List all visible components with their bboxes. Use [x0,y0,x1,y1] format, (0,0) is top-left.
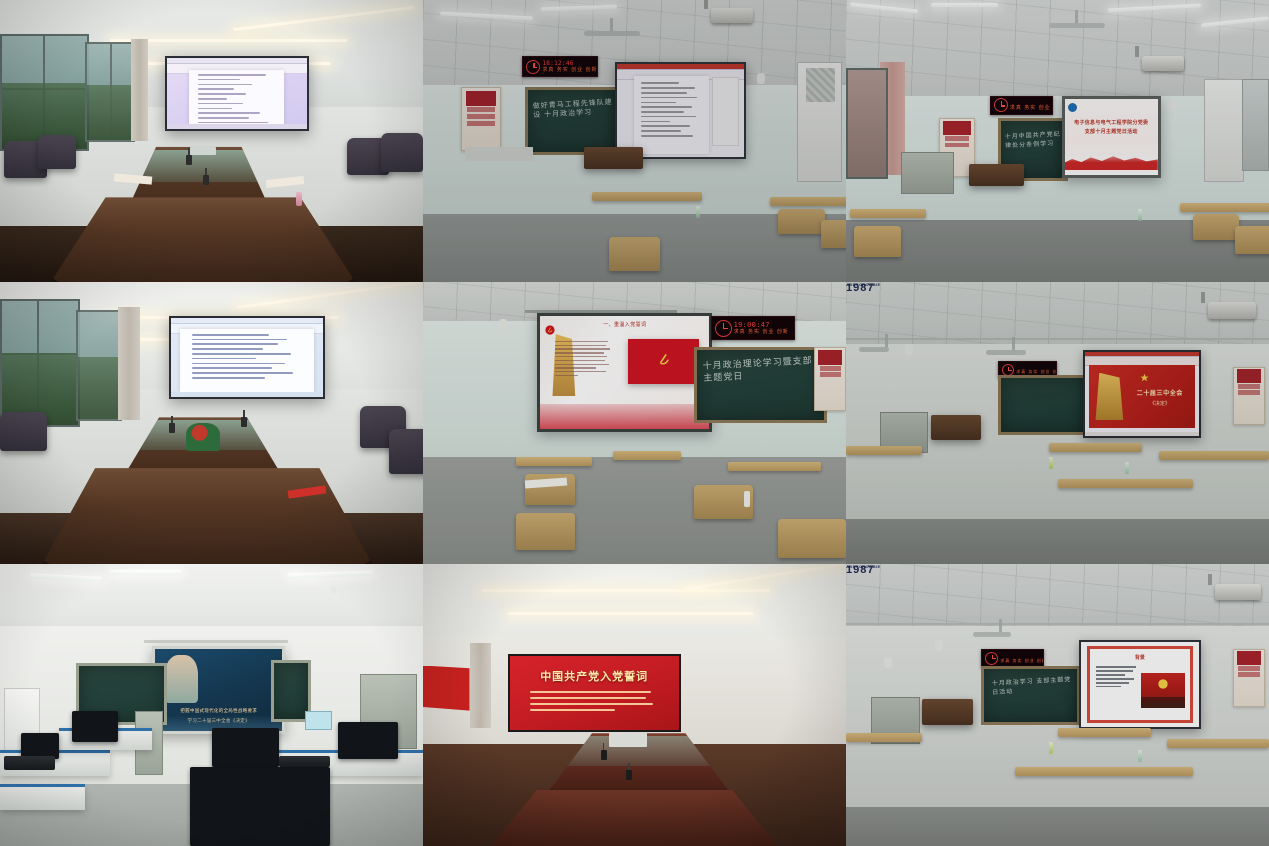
desk-row [1159,451,1269,460]
laptop [609,733,647,747]
slide-subtitle: 支部十月主题党日活动 [1065,128,1158,135]
desk-row [516,457,592,466]
ceiling-fan [859,347,889,352]
water-bottle [1138,209,1142,221]
projector [711,8,753,23]
wall-trim [846,338,1269,340]
lab-desk [0,784,85,810]
desk-row [728,462,821,471]
blackboard-text: 做好青马工程先锋队建设 十月政治学习 [532,98,616,120]
collage-cell-3[interactable]: 求真 务实 创业 创新 十月中国共产党纪律处分条例学习 电子信息与电气工程学院分… [846,0,1269,282]
window [0,299,80,427]
security-camera [757,73,765,84]
cove-light [508,612,753,615]
water-bottle [1125,462,1129,474]
projector [1208,302,1256,319]
window-panel [1242,79,1269,171]
door[interactable] [1204,79,1244,183]
chair [821,220,846,248]
desk-row [1058,479,1193,488]
projector [1142,56,1184,71]
wall-poster [461,87,501,151]
security-camera [935,640,943,651]
desk-row [846,733,922,742]
water-bottle [296,192,302,206]
floor [846,519,1269,564]
wall-notice [305,711,332,730]
podium [931,415,982,440]
smart-board[interactable] [615,62,746,159]
collage-cell-5[interactable]: 一、重温入党誓词 [423,282,846,564]
slide-title: 电子信息与电气工程学院分党委 [1065,119,1158,126]
party-flag [423,666,470,711]
office-chair [389,429,423,474]
desk-row [613,451,681,460]
chair [1235,226,1269,254]
hammer-sickle-icon [655,351,672,372]
projection-screen[interactable] [169,316,325,399]
curtain [118,307,139,420]
star-icon [1140,369,1149,378]
desk-row [850,209,926,218]
computer-lab-scene: 把握中国式现代化的全局性战略要求 学习二十届三中全会《决定》 [0,564,423,846]
office-chair [381,133,423,172]
desk-row [846,446,922,455]
collage-cell-8[interactable]: 中国共产党入党誓词 [423,564,846,846]
window [846,68,888,179]
wall-trim [846,623,1269,625]
podium [584,147,643,170]
office-chair [38,135,76,169]
blackboard-text: 十月政治理论学习暨支部主题党日 [703,354,816,384]
clock-dial-icon [994,98,1008,112]
laptop [190,147,215,155]
led-clock-motto: 求真 务实 创业 创新 [1000,659,1044,663]
wall-poster [1233,367,1265,425]
led-clock-time: 19:00:47 [734,322,789,329]
led-wall-body-lines [530,691,659,715]
collage-cell-9[interactable]: 求真 务实 创业 创新 十月政治学习 支部主题党日活动 背景 [846,564,1269,846]
classroom-scene: 求真 务实 创业 创新 十月中国共产党纪律处分条例学习 电子信息与电气工程学院分… [846,0,1269,282]
document-thumbnail-pane [712,77,739,146]
wall-poster [1233,649,1265,707]
collage-cell-6[interactable]: 求真 务实 创业 创新 二十届三中全会 《决定》 [846,282,1269,564]
window [85,42,136,142]
chair [609,237,660,271]
desk-row [1049,443,1142,452]
security-camera [1167,99,1175,110]
microphone [241,417,247,427]
party-flag-graphic [628,339,699,384]
ceiling [423,564,846,649]
desk-row [770,197,846,206]
desk-row [1167,739,1269,748]
screen-rail [144,640,288,643]
microphone [203,175,209,185]
led-clock-motto: 求真 务实 创业 创新 [1016,370,1057,374]
ceiling-fan [973,632,1011,637]
led-clock-time: 18:12:46 [542,61,597,67]
conference-room-scene [0,0,423,282]
clock-dial-icon [715,320,732,337]
microphone [186,155,192,165]
ceiling-fan [986,350,1026,355]
led-clock-motto: 求真 务实 创业 创新 [542,68,597,73]
security-camera [905,344,913,355]
classroom-scene: 18:12:46 求真 务实 创业 创新 做好青马工程先锋队建设 十月政治学习 [423,0,846,282]
clock-dial-icon [985,652,998,665]
chair [854,226,901,257]
clock-dial-icon [526,60,540,74]
statue-graphic [1094,373,1126,421]
classroom-scene: 求真 务实 创业 创新 十月政治学习 支部主题党日活动 背景 [846,564,1269,846]
led-clock-display: 求真 务实 创业 创新 [990,96,1053,115]
slide-footer-graphic [540,404,709,429]
projection-screen[interactable]: 把握中国式现代化的全局性战略要求 学习二十届三中全会《决定》 [152,646,285,734]
curtain [470,643,491,728]
chair [516,513,575,550]
blackboard: 十月政治理论学习暨支部主题党日 [694,347,827,424]
window [0,34,89,151]
classroom-scene: 一、重温入党誓词 [423,282,846,564]
monitor[interactable] [72,711,119,742]
smoke-detector [330,587,337,594]
speaker-box [884,657,892,668]
projection-screen[interactable] [165,56,309,131]
microphone [169,423,175,433]
security-camera [499,319,507,330]
smart-board[interactable]: 二十届三中全会 《决定》 [1083,350,1201,439]
blackboard: 十月政治学习 支部主题党日活动 [981,666,1080,726]
podium [922,699,973,724]
thermos-cup [744,491,750,507]
collage-cell-7[interactable]: 把握中国式现代化的全局性战略要求 学习二十届三中全会《决定》 [0,564,423,846]
slide-subtitle: 《决定》 [1131,400,1188,407]
window [76,310,122,421]
collage-cell-1[interactable] [0,0,423,282]
slide-title: 二十届三中全会 [1131,388,1188,397]
lecture-hall-scene: 求真 务实 创业 创新 二十届三中全会 《决定》 [846,282,1269,564]
flower-arrangement [186,423,220,451]
led-wall-title: 中国共产党入党誓词 [510,668,679,684]
collage-cell-2[interactable]: 18:12:46 求真 务实 创业 创新 做好青马工程先锋队建设 十月政治学习 [423,0,846,282]
desk-row [592,192,702,201]
slide-heading: 背景 [1090,654,1191,661]
slide-title: 一、重温入党誓词 [540,321,709,328]
led-clock-display: 18:12:46 求真 务实 创业 创新 [522,56,598,76]
conference-room-scene: 中国共产党入党誓词 [423,564,846,846]
chair [778,209,825,234]
blackboard-text: 十月中国共产党纪律处分条例学习 [1005,130,1066,151]
water-bottle [696,206,700,218]
wall-poster [814,347,846,411]
led-video-wall[interactable]: 中国共产党入党誓词 [508,654,681,731]
ceiling-fan [584,31,640,36]
desk-row [1058,728,1151,737]
blackboard [998,375,1089,435]
hoodie-number: 1987 [846,564,874,576]
water-bottle [1049,742,1053,754]
meeting-hall-photo [1141,673,1185,708]
desk-row [1180,203,1269,212]
led-clock-motto: 求真 务实 创业 创新 [1010,106,1053,111]
curtain [131,39,148,141]
water-bottle [1138,750,1142,762]
monitor[interactable] [212,728,280,767]
led-clock-motto: 求真 务实 创业 创新 [734,330,789,335]
desk-row [1015,767,1193,776]
hoodie-number: 1987 [846,282,874,294]
microphone [626,770,632,780]
projection-screen[interactable]: 电子信息与电气工程学院分党委 支部十月主题党日活动 [1062,96,1161,178]
door-grille [806,68,836,102]
conference-table-front [42,468,372,564]
collage-cell-4[interactable] [0,282,423,564]
chair [778,519,846,558]
keyboard[interactable] [4,756,55,770]
blackboard: 做好青马工程先锋队建设 十月政治学习 [525,87,620,155]
floor [846,807,1269,846]
document-text-lines [198,74,276,120]
keyboard[interactable] [279,756,330,767]
ceiling-fan [1049,23,1105,28]
blackboard-text: 十月政治学习 支部主题党日活动 [991,676,1077,698]
projector [1215,584,1261,600]
microphone [601,750,607,760]
podium [969,164,1024,187]
smart-board[interactable]: 背景 [1079,640,1201,729]
video-caption-1: 把握中国式现代化的全局性战略要求 [155,708,282,714]
chair [1193,214,1240,239]
cove-light [482,589,770,592]
ceiling-light [931,3,999,7]
led-clock-display: 19:00:47 求真 务实 创业 创新 [711,316,795,341]
photo-collage-grid: 18:12:46 求真 务实 创业 创新 做好青马工程先锋队建设 十月政治学习 [0,0,1269,846]
ledge [465,147,533,161]
clock-dial-icon [1002,364,1014,376]
monitor-foreground[interactable] [190,767,330,846]
office-chair [0,412,47,451]
water-bottle [1049,457,1053,469]
projection-screen[interactable]: 一、重温入党誓词 [537,313,712,432]
monitor[interactable] [338,722,397,759]
equipment-cabinet [901,152,954,193]
conference-room-scene [0,282,423,564]
monitor[interactable] [21,733,59,758]
speaker-figure [165,655,198,702]
oath-text-block [555,341,613,379]
ceiling-light [110,570,182,575]
